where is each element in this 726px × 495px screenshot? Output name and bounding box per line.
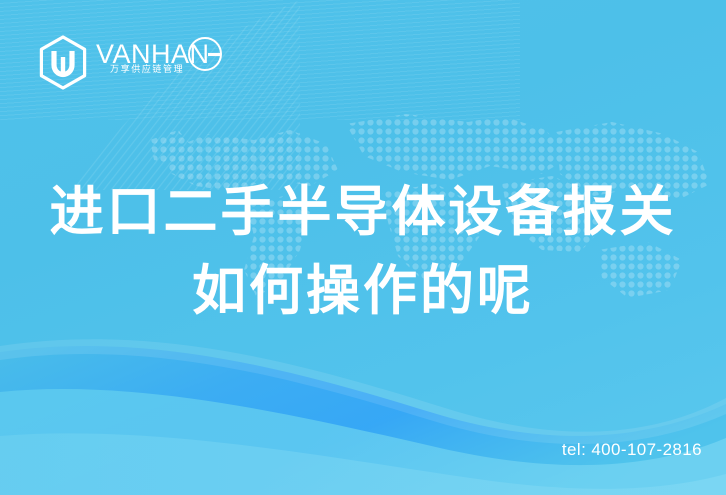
promo-banner: VANHAN 万享供应链管理 进口二手半导体设备报关 如何操作的呢 tel: 4… (0, 0, 726, 495)
headline-line-1: 进口二手半导体设备报关 (0, 178, 726, 246)
brand-logo[interactable]: VANHAN 万享供应链管理 (38, 33, 210, 91)
headline-block: 进口二手半导体设备报关 如何操作的呢 (0, 178, 726, 325)
brand-wordmark-block: VANHAN 万享供应链管理 (96, 39, 210, 85)
contact-phone: tel: 400-107-2816 (562, 440, 702, 460)
hexagon-u-mark-icon (38, 35, 88, 90)
brand-wordmark-g-ring (188, 37, 222, 71)
diagonal-line-texture (0, 0, 300, 190)
brand-subtitle: 万享供应链管理 (110, 64, 184, 75)
headline-line-2: 如何操作的呢 (0, 257, 726, 325)
